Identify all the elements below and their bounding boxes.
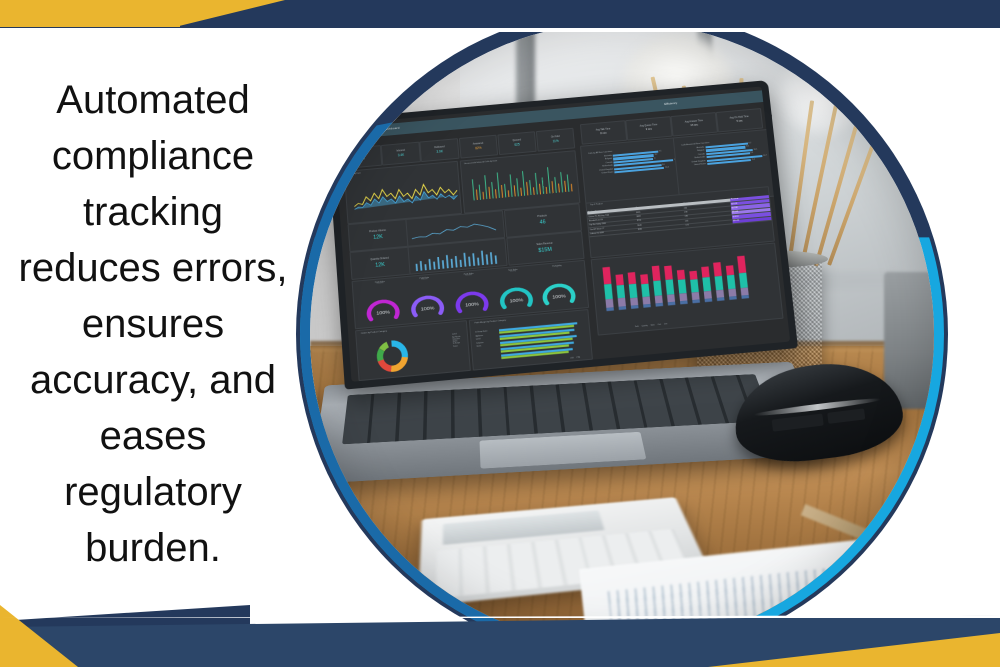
- legend-item: Cost: [658, 325, 661, 327]
- profit-margin-chart[interactable]: Profit Margin by Product Category: [468, 308, 593, 371]
- top-gold-block: [0, 0, 180, 27]
- bar-value: 9.3: [750, 152, 753, 154]
- circular-photo-frame: Business Performance Dashboard Efficienc…: [296, 8, 948, 660]
- kpi-value: 3.4K: [398, 153, 405, 157]
- legend-item: PTM: [577, 357, 581, 359]
- svg-text:100%: 100%: [465, 301, 480, 308]
- bar-value: 9.1: [659, 150, 662, 152]
- metric-value: $15M: [538, 247, 552, 254]
- photo-scene: Business Performance Dashboard Efficienc…: [310, 22, 934, 646]
- kpi-card[interactable]: Outbound 3.9K: [420, 138, 460, 162]
- chart-legend: Profit Quantity Sales Cost Loss: [635, 324, 668, 329]
- efficiency-kpi-card[interactable]: Avg Queue Time 9 sec: [625, 116, 672, 141]
- bar-value: 10.1: [753, 148, 757, 150]
- legend-item: Quantity: [642, 326, 648, 328]
- legend-item: LTM: [570, 358, 573, 360]
- profit-margin-legend: LTM PTM: [570, 357, 580, 360]
- gauge-sub: Discount: [420, 279, 430, 282]
- kpi-value: 82%: [475, 146, 482, 150]
- grouped-bar-svg: [499, 321, 587, 359]
- bar-value: 8: [654, 157, 655, 159]
- efficiency-kpi-value: 8 min: [600, 133, 607, 136]
- area-chart-svg: [352, 173, 458, 213]
- laptop-screen: Business Performance Dashboard Efficienc…: [334, 87, 790, 382]
- table-title: Top 5 Product: [590, 203, 603, 207]
- gauge-sub: Customer: [464, 275, 474, 278]
- metric-label: Products: [537, 215, 547, 219]
- sales-subcategory-chart[interactable]: Profit Quantity Sales Cost Loss: [590, 242, 783, 336]
- bar-label: Games: [476, 345, 488, 350]
- svg-text:100%: 100%: [552, 293, 567, 300]
- bar-value: 8.6: [746, 146, 749, 148]
- unsuccessful-calls-chart[interactable]: Unsuccessful Inbound Calls by Date: [459, 150, 580, 213]
- quote-text: Automated compliance tracking reduces er…: [14, 72, 292, 576]
- chart-title: Calls by Date: [348, 172, 360, 175]
- top-white-divider: [0, 28, 1000, 32]
- kpi-card[interactable]: Inbound 3.4K: [381, 141, 421, 165]
- mouse-button-left[interactable]: [772, 413, 824, 431]
- legend-item: Tractor: [453, 346, 461, 349]
- gauge-sub: Customer: [375, 283, 385, 286]
- laptop-trackpad[interactable]: [480, 432, 647, 469]
- efficiency-kpi-value: 15 sec: [690, 124, 698, 128]
- bar-value: 8.2: [655, 154, 658, 156]
- kpi-card[interactable]: On Hold 11%: [536, 128, 576, 152]
- metric-card[interactable]: Quantity Ordered 12K: [350, 247, 411, 280]
- kpi-card[interactable]: Answered 82%: [458, 134, 498, 158]
- spike-chart-svg: [468, 161, 576, 202]
- donut-legend: Lamisil Eye Results Computers Games Dr. …: [452, 334, 461, 348]
- efficiency-kpi-card[interactable]: Avg Talk Time 8 min: [580, 120, 627, 145]
- laptop-keyboard[interactable]: [342, 373, 773, 443]
- metric-value: 12K: [373, 234, 383, 241]
- legend-item: Sales: [651, 325, 655, 327]
- bar-sparkline-svg: [413, 245, 502, 271]
- chart-title: Unsuccessful Inbound Calls by Date: [464, 160, 497, 165]
- calls-by-date-chart[interactable]: Calls by Date: [344, 161, 462, 224]
- kpi-value: 3.9K: [436, 150, 443, 154]
- svg-text:100%: 100%: [509, 297, 524, 304]
- kpi-value: 11K: [359, 157, 365, 161]
- laptop-lid: Business Performance Dashboard Efficienc…: [326, 80, 798, 389]
- orders-donut-chart[interactable]: Orders by Product Category: [355, 320, 471, 382]
- metric-value: 46: [539, 219, 546, 226]
- efficiency-kpi-card[interactable]: Avg On Hold Time 5 sec: [716, 108, 763, 133]
- bar-value: 14.7: [763, 154, 767, 156]
- svg-text:100%: 100%: [420, 305, 435, 312]
- metric-value: 12K: [375, 262, 385, 269]
- kpi-card[interactable]: Queued 625: [497, 131, 537, 155]
- quote-card-canvas: Automated compliance tracking reduces er…: [0, 0, 1000, 667]
- bar-value: 9.2: [748, 142, 751, 144]
- kpi-value: 625: [514, 143, 520, 147]
- desk-photo: Business Performance Dashboard Efficienc…: [310, 22, 934, 646]
- analytics-dashboard[interactable]: Business Performance Dashboard Efficienc…: [334, 87, 790, 382]
- chart-title: Profit Margin by Product Category: [474, 319, 506, 324]
- chart-title: Orders by Product Category: [361, 330, 387, 335]
- bar-value: 10.2: [665, 166, 669, 168]
- efficiency-kpi-value: 5 sec: [737, 120, 743, 123]
- laptop-bezel: Business Performance Dashboard Efficienc…: [334, 87, 790, 382]
- mouse-button-right[interactable]: [827, 408, 865, 424]
- legend-item: Profit: [635, 327, 639, 329]
- laptop: Business Performance Dashboard Efficienc…: [335, 97, 784, 484]
- metric-card[interactable]: Product Volume 12K: [348, 219, 408, 252]
- stacked-bar-svg: [597, 248, 774, 319]
- dashboard-section-calls: Calls: [343, 142, 349, 146]
- legend-item: Loss: [664, 324, 668, 326]
- efficiency-kpi-value: 9 sec: [646, 129, 652, 132]
- efficiency-kpi-card[interactable]: Avg Answer Time 15 sec: [671, 112, 718, 137]
- profit-margin-labels: Dr. Europe Gaskit Appliances Lamisil Com…: [475, 331, 488, 350]
- line-chart-svg: [411, 216, 500, 242]
- bar-value: 9.4: [752, 159, 755, 161]
- gauge-sub: Quantity: [508, 271, 517, 274]
- kpi-value: 11%: [553, 139, 559, 143]
- table-body[interactable]: Product Name Price Quantity Revenue Devi…: [587, 195, 771, 237]
- kpi-card[interactable]: Calls 11K: [342, 145, 382, 169]
- bar-value: 9.6: [662, 163, 665, 165]
- svg-text:100%: 100%: [376, 309, 391, 316]
- donut-svg: [366, 336, 419, 376]
